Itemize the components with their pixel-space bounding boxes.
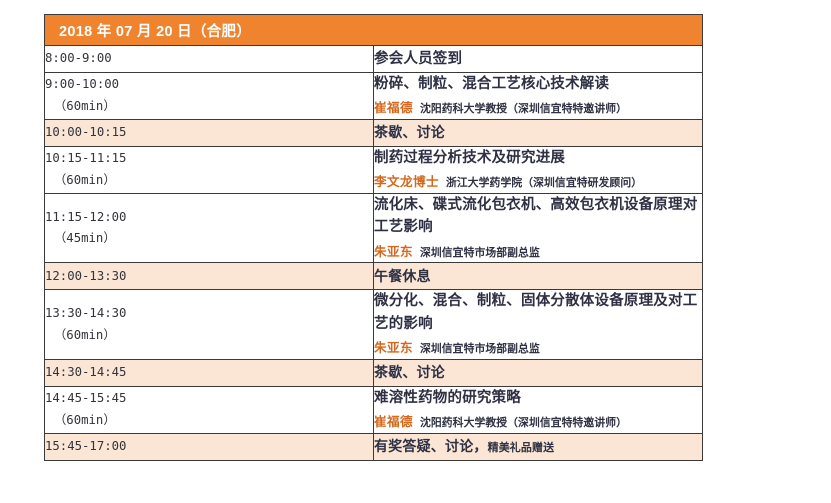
agenda-speaker-line: 崔福德沈阳药科大学教授（深圳信宜特特邀讲师） bbox=[374, 99, 702, 119]
table-row: 12:00-13:30午餐休息 bbox=[45, 263, 703, 290]
agenda-topic-cell: 微分化、混合、制粒、固体分散体设备原理及对工艺的影响朱亚东深圳信宜特市场部副总监 bbox=[374, 290, 703, 359]
agenda-topic-cell: 茶歇、讨论 bbox=[374, 119, 703, 146]
agenda-time-range: 10:00-10:15 bbox=[45, 122, 373, 144]
agenda-time-cell: 14:45-15:45（60min） bbox=[45, 386, 374, 433]
agenda-speaker-name: 崔福德 bbox=[374, 101, 413, 115]
agenda-topic-cell: 有奖答疑、讨论，精美礼品赠送 bbox=[374, 433, 703, 460]
agenda-time-range: 13:30-14:30 bbox=[45, 303, 373, 325]
agenda-topic-title: 微分化、混合、制粒、固体分散体设备原理及对工艺的影响 bbox=[374, 290, 702, 335]
agenda-duration: （45min） bbox=[45, 228, 373, 250]
agenda-speaker-name: 朱亚东 bbox=[374, 245, 413, 259]
agenda-speaker-name: 朱亚东 bbox=[374, 341, 413, 355]
agenda-time-range: 14:30-14:45 bbox=[45, 362, 373, 384]
agenda-time-cell: 10:00-10:15 bbox=[45, 119, 374, 146]
agenda-speaker-affiliation: 深圳信宜特市场部副总监 bbox=[420, 343, 540, 355]
agenda-topic-cell: 难溶性药物的研究策略崔福德沈阳药科大学教授（深圳信宜特特邀讲师） bbox=[374, 386, 703, 433]
table-row: 14:30-14:45茶歇、讨论 bbox=[45, 359, 703, 386]
agenda-table-container: 2018 年 07 月 20 日（合肥） 8:00-9:00参会人员签到9:00… bbox=[44, 14, 703, 461]
agenda-time-range: 11:15-12:00 bbox=[45, 207, 373, 229]
agenda-topic-title: 粉碎、制粒、混合工艺核心技术解读 bbox=[374, 73, 702, 95]
agenda-speaker-affiliation: 浙江大学药学院（深圳信宜特研发顾问） bbox=[446, 177, 642, 189]
agenda-topic-tail: 精美礼品赠送 bbox=[488, 442, 555, 454]
table-row: 9:00-10:00（60min）粉碎、制粒、混合工艺核心技术解读崔福德沈阳药科… bbox=[45, 73, 703, 120]
agenda-time-range: 12:00-13:30 bbox=[45, 266, 373, 288]
agenda-time-cell: 9:00-10:00（60min） bbox=[45, 73, 374, 120]
agenda-speaker-line: 李文龙博士浙江大学药学院（深圳信宜特研发顾问） bbox=[374, 173, 702, 193]
agenda-duration: （60min） bbox=[45, 96, 373, 118]
agenda-topic-cell: 午餐休息 bbox=[374, 263, 703, 290]
agenda-topic-cell: 流化床、碟式流化包衣机、高效包衣机设备原理对工艺影响朱亚东深圳信宜特市场部副总监 bbox=[374, 193, 703, 262]
agenda-speaker-line: 朱亚东深圳信宜特市场部副总监 bbox=[374, 339, 702, 359]
table-row: 8:00-9:00参会人员签到 bbox=[45, 46, 703, 73]
agenda-time-cell: 14:30-14:45 bbox=[45, 359, 374, 386]
agenda-speaker-line: 崔福德沈阳药科大学教授（深圳信宜特特邀讲师） bbox=[374, 413, 702, 433]
agenda-time-cell: 11:15-12:00（45min） bbox=[45, 193, 374, 262]
agenda-speaker-name: 李文龙博士 bbox=[374, 175, 439, 189]
agenda-speaker-line: 朱亚东深圳信宜特市场部副总监 bbox=[374, 243, 702, 263]
agenda-topic-cell: 制药过程分析技术及研究进展李文龙博士浙江大学药学院（深圳信宜特研发顾问） bbox=[374, 146, 703, 193]
agenda-topic-title: 难溶性药物的研究策略 bbox=[374, 387, 702, 409]
table-row: 15:45-17:00有奖答疑、讨论，精美礼品赠送 bbox=[45, 433, 703, 460]
table-row: 10:00-10:15茶歇、讨论 bbox=[45, 119, 703, 146]
agenda-topic-title: 茶歇、讨论 bbox=[374, 362, 702, 384]
agenda-topic-title: 茶歇、讨论 bbox=[374, 122, 702, 144]
agenda-topic-title: 参会人员签到 bbox=[374, 48, 702, 70]
agenda-time-range: 9:00-10:00 bbox=[45, 74, 373, 96]
agenda-duration: （60min） bbox=[45, 410, 373, 432]
agenda-date-title: 2018 年 07 月 20 日（合肥） bbox=[59, 24, 251, 40]
agenda-time-cell: 8:00-9:00 bbox=[45, 46, 374, 73]
agenda-speaker-affiliation: 沈阳药科大学教授（深圳信宜特特邀讲师） bbox=[420, 103, 627, 115]
table-row: 10:15-11:15（60min）制药过程分析技术及研究进展李文龙博士浙江大学… bbox=[45, 146, 703, 193]
agenda-time-range: 8:00-9:00 bbox=[45, 48, 373, 70]
agenda-time-range: 14:45-15:45 bbox=[45, 388, 373, 410]
agenda-speaker-name: 崔福德 bbox=[374, 415, 413, 429]
agenda-duration: （60min） bbox=[45, 170, 373, 192]
agenda-time-range: 10:15-11:15 bbox=[45, 148, 373, 170]
agenda-header-cell: 2018 年 07 月 20 日（合肥） bbox=[45, 15, 703, 46]
agenda-topic-title: 制药过程分析技术及研究进展 bbox=[374, 147, 702, 169]
agenda-topic-cell: 粉碎、制粒、混合工艺核心技术解读崔福德沈阳药科大学教授（深圳信宜特特邀讲师） bbox=[374, 73, 703, 120]
agenda-time-cell: 15:45-17:00 bbox=[45, 433, 374, 460]
agenda-topic-title: 流化床、碟式流化包衣机、高效包衣机设备原理对工艺影响 bbox=[374, 194, 702, 239]
table-row: 11:15-12:00（45min）流化床、碟式流化包衣机、高效包衣机设备原理对… bbox=[45, 193, 703, 262]
agenda-table: 2018 年 07 月 20 日（合肥） 8:00-9:00参会人员签到9:00… bbox=[44, 14, 703, 461]
agenda-topic-title: 有奖答疑、讨论，精美礼品赠送 bbox=[374, 436, 702, 458]
agenda-duration: （60min） bbox=[45, 325, 373, 347]
table-row: 14:45-15:45（60min）难溶性药物的研究策略崔福德沈阳药科大学教授（… bbox=[45, 386, 703, 433]
agenda-speaker-affiliation: 深圳信宜特市场部副总监 bbox=[420, 247, 540, 259]
agenda-time-cell: 12:00-13:30 bbox=[45, 263, 374, 290]
agenda-topic-cell: 参会人员签到 bbox=[374, 46, 703, 73]
agenda-time-cell: 10:15-11:15（60min） bbox=[45, 146, 374, 193]
agenda-topic-title: 午餐休息 bbox=[374, 266, 702, 288]
agenda-time-range: 15:45-17:00 bbox=[45, 436, 373, 458]
agenda-header-row: 2018 年 07 月 20 日（合肥） bbox=[45, 15, 703, 46]
agenda-speaker-affiliation: 沈阳药科大学教授（深圳信宜特特邀讲师） bbox=[420, 417, 627, 429]
table-row: 13:30-14:30（60min）微分化、混合、制粒、固体分散体设备原理及对工… bbox=[45, 290, 703, 359]
agenda-topic-cell: 茶歇、讨论 bbox=[374, 359, 703, 386]
agenda-time-cell: 13:30-14:30（60min） bbox=[45, 290, 374, 359]
